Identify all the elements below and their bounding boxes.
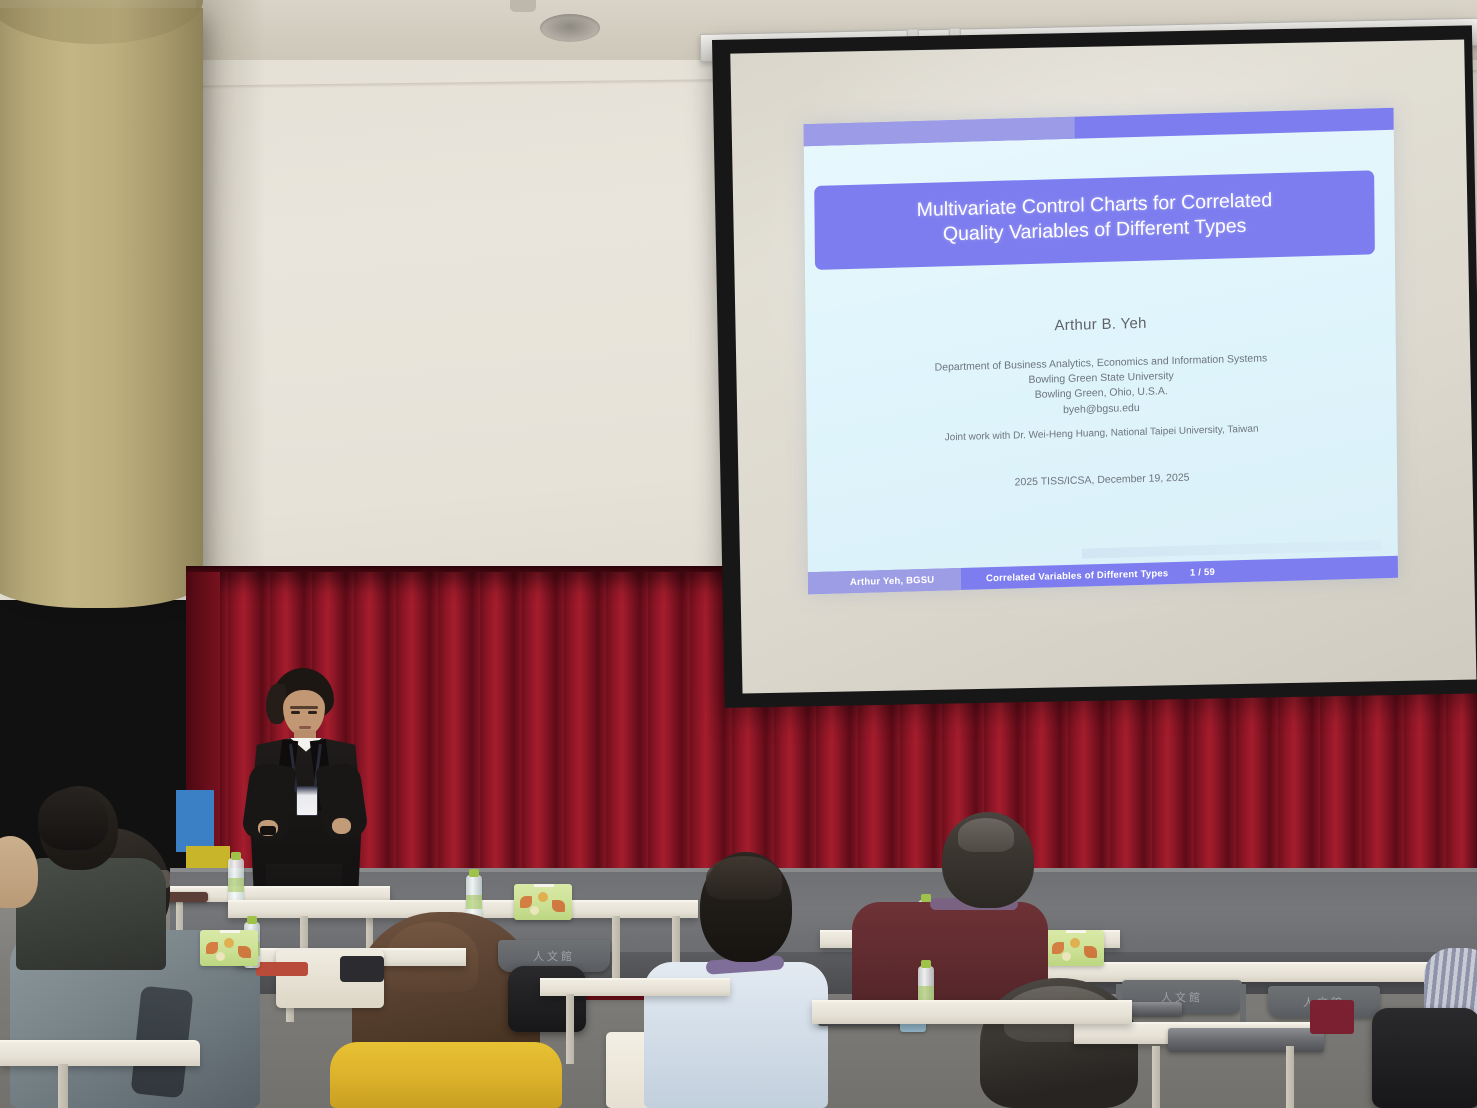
slide-affiliation: Department of Business Analytics, Econom… bbox=[806, 348, 1396, 425]
tissue-box bbox=[1046, 930, 1104, 966]
presenter-hand-right bbox=[332, 818, 351, 834]
presenter-clicker bbox=[260, 826, 276, 835]
table-leg bbox=[1152, 1046, 1160, 1108]
red-pouch bbox=[256, 962, 308, 976]
dark-pouch bbox=[340, 956, 384, 982]
presenter-badge bbox=[296, 786, 318, 816]
slide-footer-bar: Arthur Yeh, BGSU Correlated Variables of… bbox=[808, 556, 1398, 594]
slide-conference: 2025 TISS/ICSA, December 19, 2025 bbox=[807, 466, 1397, 494]
structural-column bbox=[0, 8, 203, 608]
slide-canvas: Multivariate Control Charts for Correlat… bbox=[804, 108, 1398, 594]
projected-slide: Multivariate Control Charts for Correlat… bbox=[804, 108, 1398, 594]
table-foreground-left bbox=[0, 1040, 200, 1066]
presenter-eye-left bbox=[291, 711, 300, 714]
slide-joint-work: Joint work with Dr. Wei-Heng Huang, Nati… bbox=[807, 420, 1397, 447]
wall-shadow bbox=[196, 0, 266, 620]
water-bottle bbox=[228, 858, 244, 904]
audience-left-back-body bbox=[16, 858, 166, 970]
slide-title-box: Multivariate Control Charts for Correlat… bbox=[814, 170, 1375, 270]
presenter-mouth bbox=[299, 726, 311, 729]
table-leg bbox=[58, 1064, 68, 1108]
table-row-a-far-right bbox=[1040, 962, 1477, 982]
chair-label: 人文館 bbox=[533, 948, 575, 964]
audience-back-left-head bbox=[38, 788, 108, 850]
backpack bbox=[508, 966, 586, 1032]
slide-author: Arthur B. Yeh bbox=[806, 308, 1396, 341]
presenter-brow bbox=[290, 706, 318, 709]
audience-blue-shirt-hair bbox=[706, 856, 782, 900]
slide-footer-page: 1 / 59 bbox=[1190, 566, 1215, 578]
ceiling-air-vent-icon bbox=[540, 14, 600, 42]
ceiling-spotlight bbox=[510, 0, 536, 12]
table-leg bbox=[1286, 1046, 1294, 1108]
screen-surface: Multivariate Control Charts for Correlat… bbox=[730, 40, 1476, 694]
lecture-hall-photo: Multivariate Control Charts for Correlat… bbox=[0, 0, 1477, 1108]
slide-faint-text bbox=[1082, 540, 1382, 558]
tissue-box bbox=[200, 930, 258, 966]
table-leg bbox=[566, 994, 574, 1064]
phone-on-table bbox=[166, 892, 208, 902]
audience-maroon-hair-highlight bbox=[958, 818, 1014, 852]
projection-screen: Multivariate Control Charts for Correlat… bbox=[712, 25, 1477, 707]
table-row-b-right bbox=[812, 1000, 1132, 1024]
slide-footer-author: Arthur Yeh, BGSU bbox=[850, 574, 934, 587]
red-item bbox=[1310, 1000, 1354, 1034]
laptop-closed[interactable] bbox=[1168, 1028, 1324, 1052]
slide-footer-title: Correlated Variables of Different Types bbox=[986, 568, 1168, 584]
presenter bbox=[236, 668, 368, 908]
audience-far-left-head bbox=[0, 836, 38, 908]
tissue-box bbox=[514, 884, 572, 920]
presenter-eye-right bbox=[308, 711, 317, 714]
backpack-right bbox=[1372, 1008, 1477, 1108]
slide-top-bar bbox=[804, 108, 1394, 146]
blue-panel bbox=[176, 790, 214, 852]
audience-yellow-body bbox=[330, 1042, 562, 1108]
